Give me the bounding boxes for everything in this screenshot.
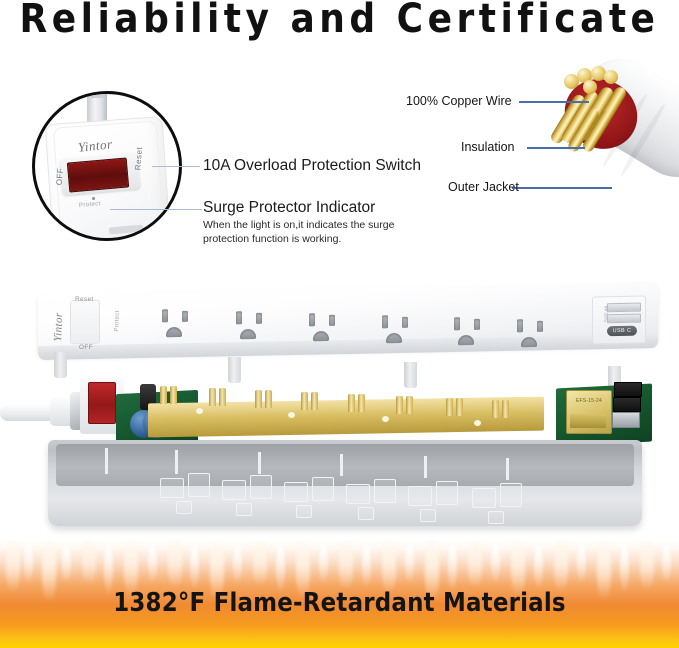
flame-flicker [6,540,20,592]
outlet-ground-hole [386,333,402,343]
outlet-slot-left [382,315,388,328]
outlet-slot-right [182,311,188,322]
flame-flicker [82,540,96,584]
inset-overload-switch[interactable] [67,157,129,192]
flame-flicker [468,540,482,588]
strip-brand-label: Yintor [52,312,65,342]
flame-flicker [448,544,457,592]
usb-c-port[interactable]: USB C [607,326,637,337]
housing-post [258,452,261,474]
housing-post [340,454,343,476]
outlet-cavity [500,483,522,507]
strip-reset-label: Reset [75,296,93,303]
outlet-cavity [436,481,458,505]
flame-flicker [253,540,267,586]
housing-inner-cavity [56,444,634,486]
flame-banner-text: 1382°F Flame-Retardant Materials [0,588,679,618]
ac-outlet[interactable] [448,317,496,348]
outlet-ground-hole [521,337,537,347]
strip-off-label: OFF [79,344,93,351]
strip-foot [228,357,241,383]
label-insulation: Insulation [461,140,515,154]
usb-a-port[interactable] [607,314,641,324]
busbar-contact-clip [348,394,355,412]
flame-flicker [662,544,671,584]
flame-flicker [362,544,371,588]
outlet-slot-left [162,309,168,322]
power-cord [0,404,56,421]
leader-line-copper [519,101,589,103]
page-title: Reliability and Certificate [0,0,679,42]
busbar-contact-clip [406,396,413,414]
busbar-contact-clip [209,388,216,406]
ac-outlet[interactable] [156,309,204,340]
flame-flicker [190,544,199,590]
flame-flicker [339,540,353,590]
copper-strand-end [583,80,597,94]
busbar-contact-clip [311,392,318,410]
busbar-contact-clip [265,390,272,408]
flame-flicker [577,544,586,584]
flame-flicker [62,544,71,584]
busbar-contact-clip [456,398,463,416]
outlet-slot-right [537,321,543,332]
ac-outlet[interactable] [230,311,278,342]
copper-strand-end [604,70,618,84]
outlet-slot-right [329,315,335,326]
flame-flicker [233,544,242,584]
outlet-ground-hole [166,327,182,337]
busbar-contact-clip [255,390,262,408]
outlet-cavity-small [488,511,504,524]
outlet-cavity [250,475,272,499]
transformer-core [570,414,606,428]
flame-flicker [640,540,654,590]
outlet-cavity [346,484,370,504]
inset-off-label: OFF [55,167,65,185]
outlet-slot-right [474,319,480,330]
outlet-cavity [188,473,210,497]
housing-post [506,458,509,480]
busbar-contact-clip [492,400,499,418]
outlet-cavity-small [296,505,312,518]
outlet-cavity [408,486,432,506]
flame-flicker [168,540,182,588]
ac-outlet[interactable] [376,315,424,346]
outlet-cavity-small [236,503,252,516]
outlet-cavity [284,482,308,502]
busbar-contact-clip [396,396,403,414]
busbar-contact-clip [170,386,177,404]
outlet-cavity-small [358,507,374,520]
callout-overload-title: 10A Overload Protection Switch [203,157,421,175]
busbar-hole [382,416,389,422]
leader-line-overload [152,166,200,167]
outlet-cavity [472,488,496,508]
housing-post [424,456,427,478]
flame-flicker [24,544,33,584]
leader-line-insulation [527,147,585,149]
flame-flicker [276,544,285,594]
busbar-contact-clip [358,394,365,412]
usb-a-module [613,397,641,412]
leader-line-surge [110,209,202,210]
busbar-hole [474,420,481,426]
callout-surge-title: Surge Protector Indicator [203,199,375,217]
flame-flicker [491,544,500,584]
transformer-label: EFS-15-24 [568,398,610,404]
overload-switch-internal [88,382,116,424]
flame-flicker [534,544,543,590]
busbar-hole [196,408,203,414]
outlet-cavity [222,480,246,500]
outlet-slot-left [236,311,242,324]
flame-flicker [405,544,414,584]
flame-flicker [382,540,396,594]
flame-flicker [319,544,328,584]
outlet-slot-right [256,313,262,324]
usb-port-panel[interactable]: 5V/2.4A USB C [592,295,646,344]
busbar-contact-clip [502,400,509,418]
inset-reset-label: Reset [133,147,144,171]
ac-outlet[interactable] [511,319,559,350]
strip-foot [404,362,417,388]
strip-protect-label: Protect [114,310,121,331]
outlet-slot-right [402,317,408,328]
busbar-contact-clip [446,398,453,416]
busbar-contact-clip [219,388,226,406]
strip-switch-plate[interactable] [70,300,100,345]
cable-cross-section-illustration [548,62,679,202]
busbar-contact-clip [301,392,308,410]
flame-flicker [620,544,629,594]
outlet-cavity [160,478,184,498]
outlet-ground-hole [458,335,474,345]
outlet-slot-left [517,319,523,332]
outlet-cavity-small [420,509,436,522]
housing-post [105,448,108,474]
outlet-cavity [312,477,334,501]
leader-line-jacket [512,187,612,189]
strip-foot [54,352,67,378]
usb-a-module [614,382,642,397]
usb-a-port[interactable] [607,303,641,313]
outlet-ground-hole [313,331,329,341]
outlet-cavity [374,479,396,503]
housing-post [175,450,178,474]
outlet-cavity-small [176,501,192,514]
busbar-hole [288,412,295,418]
usb-c-module [612,412,640,428]
label-copper-wire: 100% Copper Wire [406,94,512,108]
outlet-ground-hole [240,329,256,339]
inset-protect-indicator-icon [92,197,95,200]
outlet-slot-left [309,313,315,326]
busbar-contact-clip [160,386,167,404]
outlet-slot-left [454,317,460,330]
ac-outlet[interactable] [303,313,351,344]
callout-surge-description: When the light is on,it indicates the su… [203,218,418,246]
copper-busbar-assembly [148,397,544,438]
label-outer-jacket: Outer Jacket [448,180,519,194]
flame-flicker [148,544,157,584]
flame-flicker [554,540,568,592]
